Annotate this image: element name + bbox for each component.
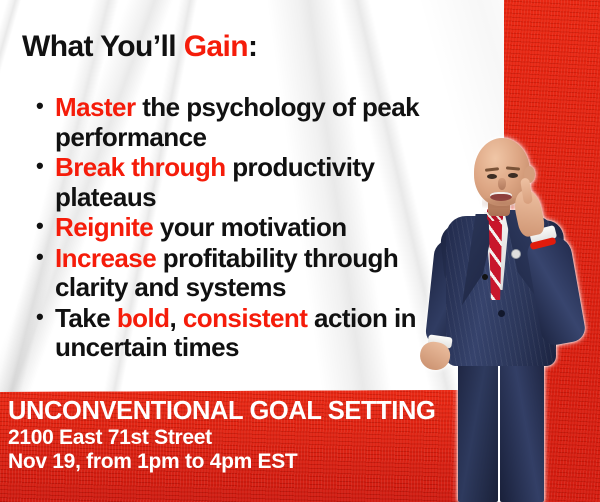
bullet-text: your motivation	[153, 212, 346, 242]
bullet-accent: Master	[55, 92, 136, 122]
list-item: Increase profitability through clarity a…	[34, 244, 464, 303]
list-item: Break through productivity plateaus	[34, 153, 464, 212]
event-banner-text: UNCONVENTIONAL GOAL SETTING 2100 East 71…	[8, 398, 468, 475]
promo-poster: What You’ll Gain: Master the psychology …	[0, 0, 600, 502]
event-title: UNCONVENTIONAL GOAL SETTING	[8, 398, 468, 426]
speaker-lapel-pin	[512, 250, 520, 258]
bullet-lead: Take	[55, 303, 117, 333]
speaker-nose	[498, 178, 506, 190]
list-item: Take bold, consistent action in uncertai…	[34, 304, 464, 363]
speaker-leg-left	[458, 346, 498, 502]
page-title: What You’ll Gain:	[22, 30, 257, 63]
event-address: 2100 East 71st Street	[8, 426, 468, 451]
bullet-separator: ,	[169, 303, 182, 333]
list-item: Reignite your motivation	[34, 213, 464, 243]
list-item: Master the psychology of peak performanc…	[34, 93, 464, 152]
bullet-accent: Break through	[55, 152, 226, 182]
speaker-photo	[412, 150, 592, 502]
benefits-list: Master the psychology of peak performanc…	[34, 93, 464, 364]
headline-suffix: :	[248, 30, 257, 63]
headline-accent: Gain	[184, 30, 248, 63]
bullet-accent: Reignite	[55, 212, 153, 242]
event-datetime: Nov 19, from 1pm to 4pm EST	[8, 450, 468, 475]
bullet-accent: Increase	[55, 243, 156, 273]
bullet-accent-2: consistent	[183, 303, 308, 333]
speaker-lapel-microphone	[482, 274, 488, 280]
speaker-jacket-button	[498, 310, 505, 317]
bullet-accent: bold	[117, 303, 170, 333]
speaker-leg-right	[500, 346, 544, 502]
speaker-eye-left	[487, 174, 497, 179]
headline-prefix: What You’ll	[22, 30, 184, 63]
speaker-eye-right	[508, 173, 518, 178]
